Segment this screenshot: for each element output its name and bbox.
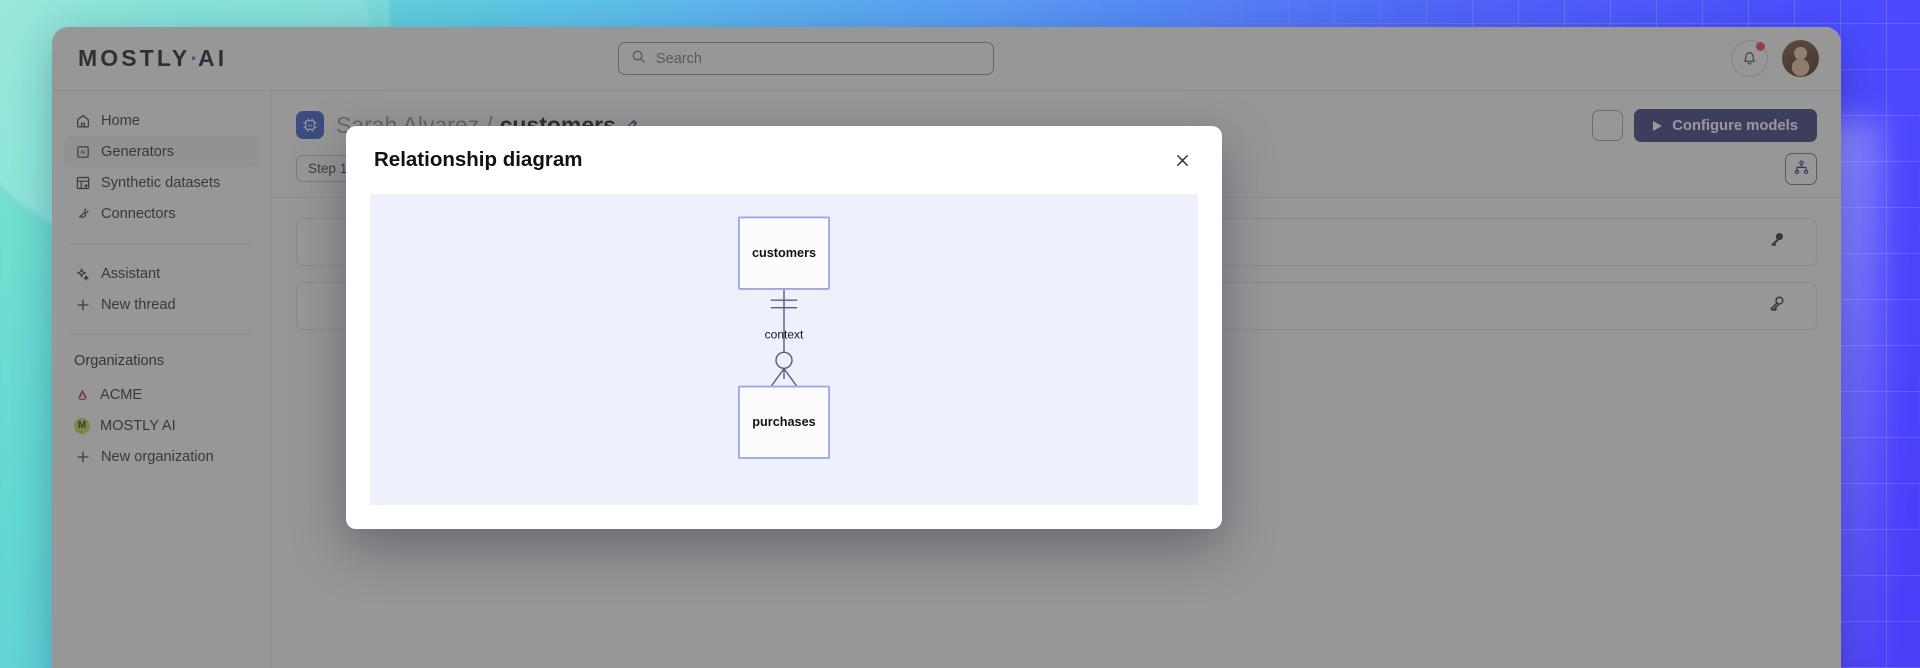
- entity-label: purchases: [752, 415, 815, 429]
- cardinality-zero-circle: [776, 352, 792, 368]
- modal-header: Relationship diagram: [346, 126, 1222, 194]
- entity-label: customers: [752, 246, 816, 260]
- close-icon[interactable]: [1168, 146, 1196, 174]
- er-diagram: context customers purchases: [370, 194, 1198, 505]
- entity-purchases[interactable]: purchases: [739, 387, 829, 458]
- er-diagram-canvas[interactable]: context customers purchases: [370, 194, 1198, 505]
- modal-title: Relationship diagram: [374, 148, 582, 172]
- entity-customers[interactable]: customers: [739, 217, 829, 288]
- relationship-label: context: [765, 328, 804, 342]
- relationship-diagram-modal: Relationship diagram context customers: [346, 126, 1222, 529]
